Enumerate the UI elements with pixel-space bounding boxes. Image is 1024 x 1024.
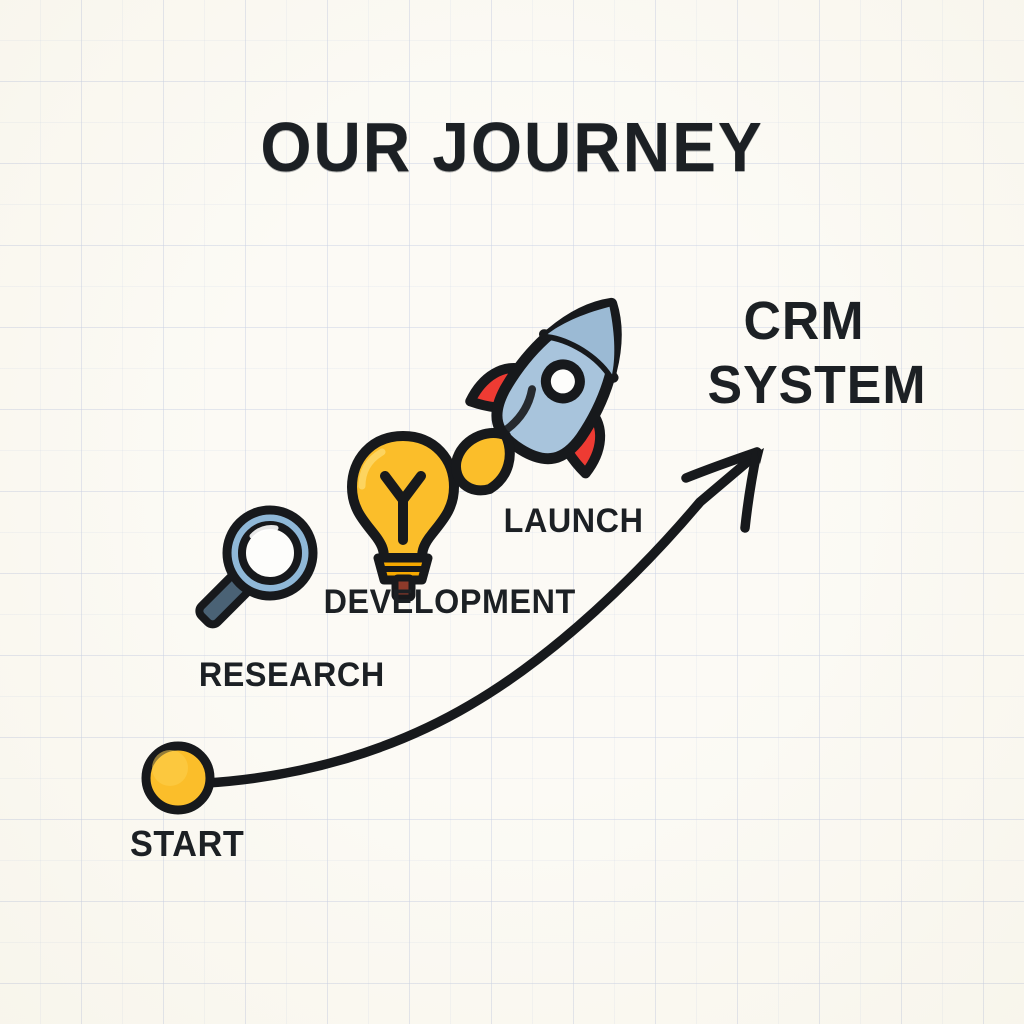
rocket-icon[interactable] <box>431 267 670 536</box>
page-title: OUR JOURNEY <box>31 112 994 182</box>
journey-infographic: OUR JOURNEY CRM SYSTEM LAUNCH DEVELOPMEN… <box>0 0 1024 1024</box>
milestone-label-start: START <box>130 826 244 862</box>
milestone-label-research: RESEARCH <box>199 658 385 692</box>
milestone-label-launch: LAUNCH <box>504 504 644 538</box>
milestone-label-development: DEVELOPMENT <box>324 585 576 619</box>
goal-label-line2: SYSTEM <box>708 358 927 412</box>
goal-label-line1: CRM <box>744 294 865 348</box>
